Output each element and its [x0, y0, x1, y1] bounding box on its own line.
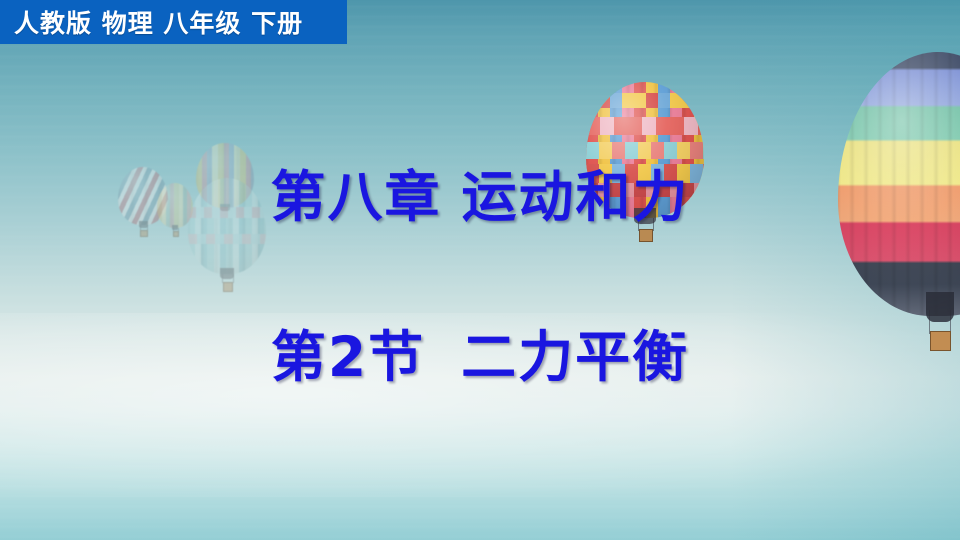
section-title-name: 二力平衡: [461, 325, 689, 389]
balloon-band: [586, 117, 704, 135]
section-title-prefix: 第2节: [271, 325, 425, 389]
banner-label: 人教版 物理 八年级 下册: [0, 4, 303, 40]
textbook-edition-banner: 人教版 物理 八年级 下册: [0, 0, 347, 44]
balloon-band: [188, 234, 266, 245]
section-title: 第2节二力平衡: [0, 312, 960, 392]
presentation-slide: 人教版 物理 八年级 下册 第八章运动和力 第2节二力平衡: [0, 0, 960, 540]
balloon-basket: [173, 231, 179, 237]
balloon-basket: [223, 282, 234, 292]
chapter-title-prefix: 第八章: [270, 165, 441, 229]
chapter-title-name: 运动和力: [462, 165, 690, 229]
balloon-band: [586, 93, 704, 108]
chapter-title: 第八章运动和力: [0, 152, 960, 232]
